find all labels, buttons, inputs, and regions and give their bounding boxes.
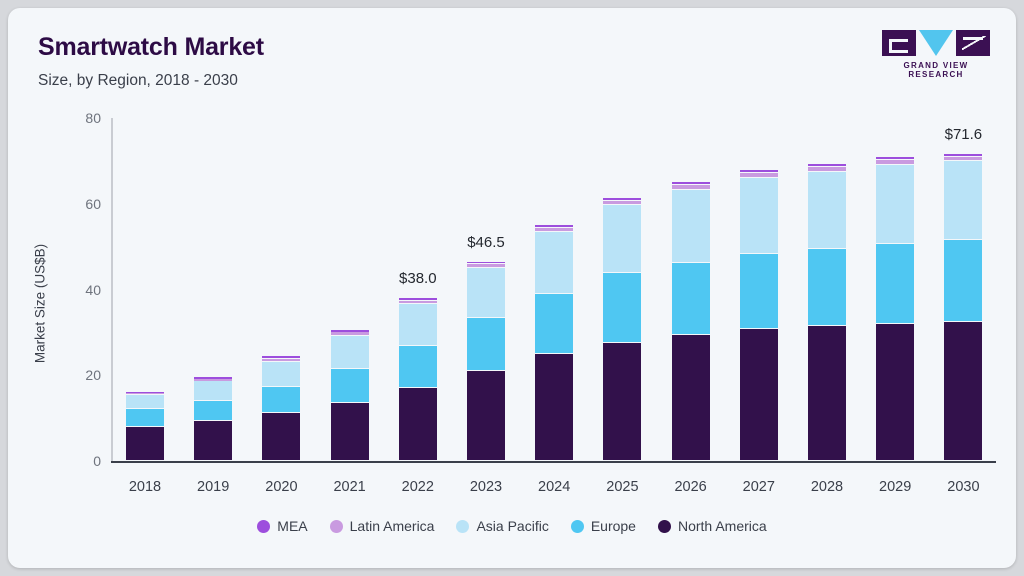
bar-segment[interactable] [467,262,505,264]
x-axis-tick-2021: 2021 [316,479,384,495]
bar-segment[interactable] [262,413,300,460]
bar-segment[interactable] [876,324,914,460]
bar-segment[interactable] [126,395,164,408]
bar-segment[interactable] [126,409,164,426]
legend-swatch-icon [257,520,270,533]
chart-plot-area: Market Size (US$B) 020406080201820192020… [8,8,1016,568]
bar-segment[interactable] [740,254,778,328]
bar-segment[interactable] [740,329,778,460]
x-axis-tick-2022: 2022 [384,479,452,495]
bar-segment[interactable] [603,201,641,204]
bar-value-label: $38.0 [373,270,463,287]
bar-segment[interactable] [399,298,437,300]
bar-segment[interactable] [262,362,300,387]
x-axis-tick-2028: 2028 [793,479,861,495]
bar-segment[interactable] [672,182,710,184]
legend-item-latin-america[interactable]: Latin America [330,518,435,534]
x-axis-tick-2019: 2019 [179,479,247,495]
y-axis-tick-80: 80 [55,110,101,126]
legend-swatch-icon [330,520,343,533]
legend-item-asia-pacific[interactable]: Asia Pacific [456,518,548,534]
bar-segment[interactable] [194,377,232,379]
legend-item-mea[interactable]: MEA [257,518,307,534]
bar-segment[interactable] [331,332,369,334]
legend-label: North America [678,518,767,534]
y-axis-tick-40: 40 [55,282,101,298]
legend-label: Asia Pacific [476,518,548,534]
bar-segment[interactable] [876,160,914,164]
x-axis-tick-2020: 2020 [247,479,315,495]
y-axis-tick-0: 0 [55,453,101,469]
bar-segment[interactable] [194,421,232,460]
x-axis-line [111,461,996,463]
bar-segment[interactable] [126,392,164,394]
y-axis-line [111,118,113,463]
bar-segment[interactable] [399,388,437,460]
x-axis-tick-2018: 2018 [111,479,179,495]
bar-segment[interactable] [944,157,982,161]
chart-legend: MEALatin AmericaAsia PacificEuropeNorth … [8,518,1016,534]
bar-segment[interactable] [194,401,232,421]
bar-segment[interactable] [331,330,369,332]
bar-segment[interactable] [672,185,710,188]
y-axis-label: Market Size (US$B) [33,214,48,394]
bar-segment[interactable] [126,427,164,460]
bar-segment[interactable] [672,335,710,460]
legend-label: Latin America [350,518,435,534]
x-axis-tick-2025: 2025 [588,479,656,495]
bar-segment[interactable] [740,178,778,253]
bar-segment[interactable] [535,294,573,353]
bar-segment[interactable] [194,381,232,399]
bar-segment[interactable] [603,205,641,272]
bar-value-label: $46.5 [441,234,531,251]
bar-segment[interactable] [876,157,914,159]
legend-swatch-icon [571,520,584,533]
legend-label: MEA [277,518,307,534]
y-axis-tick-20: 20 [55,367,101,383]
bar-segment[interactable] [467,268,505,317]
bar-segment[interactable] [808,326,846,460]
bar-segment[interactable] [126,393,164,395]
bar-segment[interactable] [535,228,573,231]
bar-segment[interactable] [808,249,846,326]
x-axis-tick-2024: 2024 [520,479,588,495]
bar-segment[interactable] [535,354,573,460]
x-axis-tick-2029: 2029 [861,479,929,495]
legend-label: Europe [591,518,636,534]
bar-segment[interactable] [262,387,300,412]
bar-segment[interactable] [944,154,982,156]
bar-segment[interactable] [603,343,641,460]
legend-item-europe[interactable]: Europe [571,518,636,534]
legend-swatch-icon [658,520,671,533]
bar-segment[interactable] [331,336,369,368]
bar-segment[interactable] [740,173,778,176]
bar-segment[interactable] [672,190,710,262]
bar-segment[interactable] [399,346,437,387]
bar-segment[interactable] [399,301,437,303]
bar-segment[interactable] [467,264,505,267]
bar-segment[interactable] [944,161,982,238]
x-axis-tick-2030: 2030 [929,479,997,495]
bar-value-label: $71.6 [918,126,1008,143]
bar-segment[interactable] [808,172,846,248]
bar-segment[interactable] [399,304,437,345]
bar-segment[interactable] [194,379,232,381]
bar-segment[interactable] [944,240,982,321]
bar-segment[interactable] [467,371,505,460]
bar-segment[interactable] [672,263,710,334]
bar-segment[interactable] [262,356,300,358]
x-axis-tick-2027: 2027 [725,479,793,495]
bar-segment[interactable] [467,318,505,369]
legend-item-north-america[interactable]: North America [658,518,767,534]
bar-segment[interactable] [740,170,778,172]
bar-segment[interactable] [603,198,641,200]
x-axis-tick-2023: 2023 [452,479,520,495]
bar-segment[interactable] [876,244,914,323]
bar-segment[interactable] [876,165,914,243]
bar-segment[interactable] [808,164,846,166]
bar-segment[interactable] [331,403,369,460]
y-axis-tick-60: 60 [55,196,101,212]
bar-segment[interactable] [808,167,846,171]
bar-segment[interactable] [944,322,982,460]
bar-segment[interactable] [535,225,573,227]
bar-segment[interactable] [262,359,300,361]
legend-swatch-icon [456,520,469,533]
bar-segment[interactable] [535,232,573,293]
x-axis-tick-2026: 2026 [657,479,725,495]
bar-segment[interactable] [331,369,369,402]
chart-card: Smartwatch Market Size, by Region, 2018 … [8,8,1016,568]
bar-segment[interactable] [603,273,641,341]
